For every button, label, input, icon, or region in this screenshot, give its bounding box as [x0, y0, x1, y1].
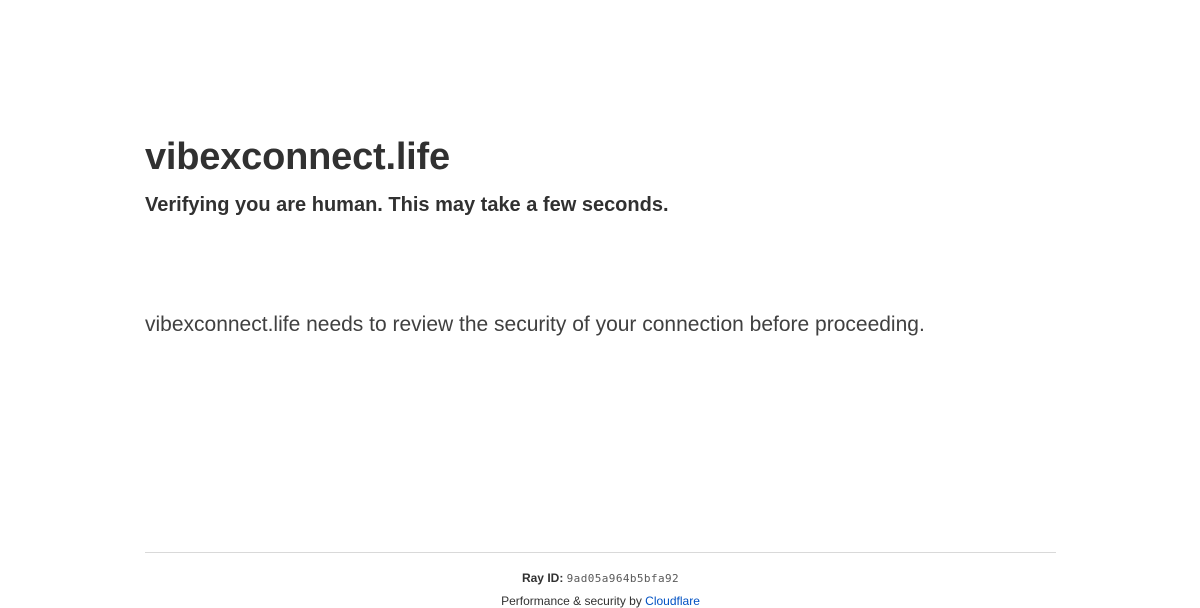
verification-status-message: Verifying you are human. This may take a… [145, 183, 1056, 219]
ray-id-label: Ray ID: [522, 571, 563, 585]
page-title: vibexconnect.life [145, 0, 1056, 183]
attribution-row: Performance & security by Cloudflare [145, 594, 1056, 608]
security-review-message: vibexconnect.life needs to review the se… [145, 307, 945, 343]
attribution-text: Performance & security by [501, 594, 645, 608]
ray-id-value: 9ad05a964b5bfa92 [567, 572, 679, 585]
challenge-widget-placeholder[interactable] [145, 219, 1056, 307]
challenge-content: vibexconnect.life Verifying you are huma… [145, 0, 1056, 343]
challenge-page: vibexconnect.life Verifying you are huma… [0, 0, 1200, 600]
cloudflare-link[interactable]: Cloudflare [645, 594, 700, 608]
ray-id-row: Ray ID: 9ad05a964b5bfa92 [145, 571, 1056, 586]
